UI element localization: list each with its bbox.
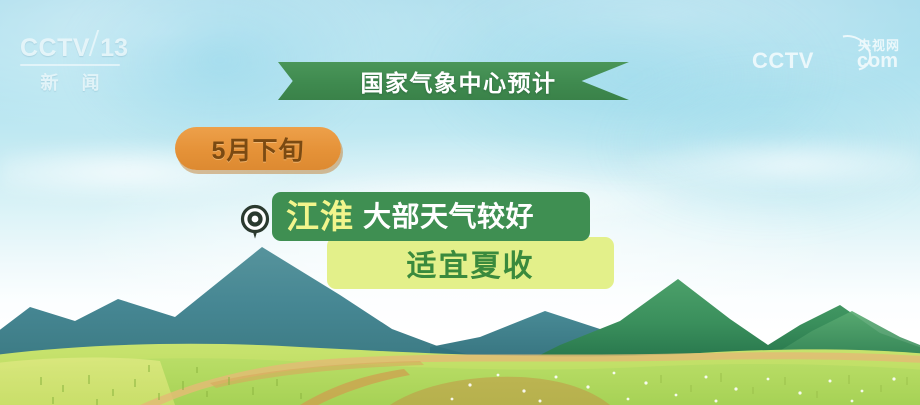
logo-cctv-text: CCTV <box>20 33 90 63</box>
broadcast-screen: CCTV 13 新 闻 央视网 CCTV com 国家气象中心预计 5月下旬 适… <box>0 0 920 405</box>
forecast-secondary-text: 适宜夏收 <box>407 241 535 285</box>
watermark-domain-text: com <box>857 50 898 73</box>
forecast-description: 大部天气较好 <box>363 203 534 231</box>
logo-channel-number: 13 <box>100 33 128 63</box>
date-badge-label: 5月下旬 <box>212 131 305 167</box>
forecast-primary-callout: 江淮 大部天气较好 <box>272 192 590 241</box>
forecast-secondary-callout: 适宜夏收 <box>327 237 614 289</box>
logo-wordmark-row: CCTV 13 <box>20 30 128 63</box>
cctv-com-watermark: 央视网 CCTV com <box>752 36 902 80</box>
logo-subtitle: 新 闻 <box>20 69 120 95</box>
cctv13-logo: CCTV 13 新 闻 <box>20 30 128 92</box>
watermark-brand-text: CCTV <box>752 48 814 74</box>
header-banner-title: 国家气象中心预计 <box>351 64 557 98</box>
forecast-region-name: 江淮 <box>286 200 354 233</box>
location-pin-icon <box>240 204 270 240</box>
logo-underline <box>20 64 120 66</box>
date-badge: 5月下旬 <box>175 127 341 170</box>
header-banner: 国家气象中心预计 <box>278 62 629 100</box>
